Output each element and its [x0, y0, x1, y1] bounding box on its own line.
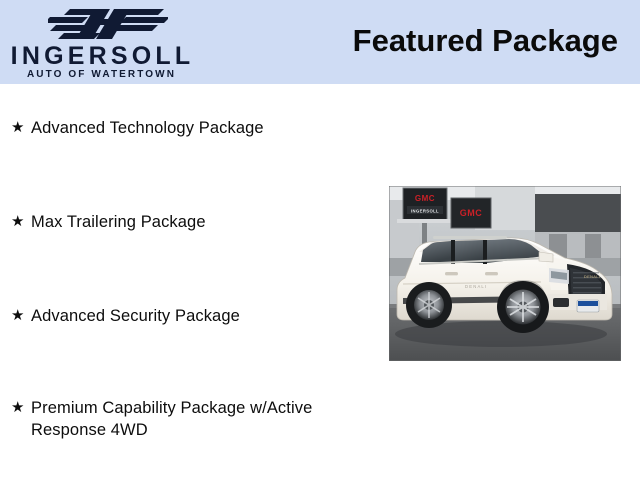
list-item: ★ Advanced Security Package	[11, 305, 371, 327]
list-item: ★ Premium Capability Package w/Active Re…	[11, 397, 371, 441]
svg-text:GMC: GMC	[460, 208, 483, 218]
page-title: Featured Package	[353, 23, 618, 59]
star-bullet-icon: ★	[11, 305, 31, 327]
svg-text:DENALI: DENALI	[465, 284, 487, 289]
ingersoll-winged-emblem-icon	[48, 5, 168, 43]
feature-label: Advanced Security Package	[31, 305, 240, 327]
feature-label: Premium Capability Package w/Active Resp…	[31, 397, 312, 441]
dealer-tagline: AUTO OF WATERTOWN	[0, 70, 203, 80]
star-bullet-icon: ★	[11, 211, 31, 233]
list-item: ★ Advanced Technology Package	[11, 117, 371, 139]
svg-text:GMC: GMC	[415, 194, 435, 203]
feature-label: Max Trailering Package	[31, 211, 206, 233]
svg-text:INGERSOLL: INGERSOLL	[411, 209, 439, 214]
dealer-wordmark: INGERSOLL	[0, 44, 205, 69]
star-bullet-icon: ★	[11, 117, 31, 139]
dealer-logo: INGERSOLL AUTO OF WATERTOWN	[0, 2, 210, 82]
vehicle-photo: GMC INGERSOLL GMC	[389, 186, 621, 361]
star-bullet-icon: ★	[11, 397, 31, 419]
list-item: ★ Max Trailering Package	[11, 211, 371, 233]
feature-label: Advanced Technology Package	[31, 117, 264, 139]
svg-text:DENALI: DENALI	[584, 274, 600, 279]
